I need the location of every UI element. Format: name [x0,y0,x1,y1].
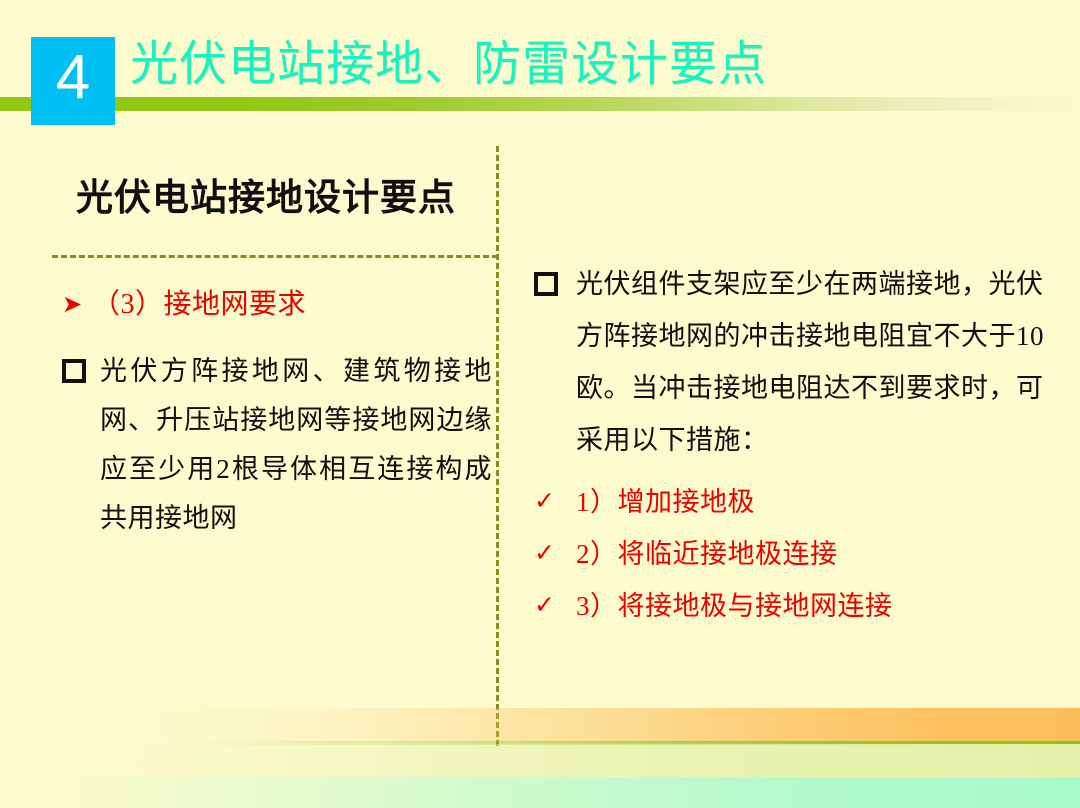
check-mark-icon: ✓ [534,528,576,580]
vertical-dashed-divider [496,146,499,746]
left-bullet-item: 光伏方阵接地网、建筑物接地网、升压站接地网等接地网边缘应至少用2根导体相互连接构… [62,347,492,543]
check-mark-icon: ✓ [534,476,576,528]
footer-band-lime [0,744,1080,777]
left-column: 光伏电站接地设计要点 [40,176,492,222]
hollow-square-icon [534,258,576,296]
page-title: 光伏电站接地、防雷设计要点 [130,36,767,94]
right-check-label: 2）将临近接地极连接 [576,528,1050,580]
right-check-list: ✓ 1）增加接地极 ✓ 2）将临近接地极连接 ✓ 3）将接地极与接地网连接 [534,476,1050,632]
left-column-title: 光伏电站接地设计要点 [40,176,492,222]
slide-root: 4 光伏电站接地、防雷设计要点 光伏电站接地设计要点 ➤ （3）接地网要求 光伏… [0,0,1080,808]
right-bullet-item: 光伏组件支架应至少在两端接地，光伏方阵接地网的冲击接地电阻宜不大于10欧。当冲击… [534,258,1050,466]
left-lead-item: ➤ （3）接地网要求 [62,285,492,325]
footer-band-mint [0,777,1080,808]
footer-band-orange [0,708,1080,742]
header-gradient-band [0,97,1080,111]
right-check-item: ✓ 3）将接地极与接地网连接 [534,580,1050,632]
right-check-label: 3）将接地极与接地网连接 [576,580,1050,632]
left-column-body: ➤ （3）接地网要求 光伏方阵接地网、建筑物接地网、升压站接地网等接地网边缘应至… [62,285,492,543]
check-mark-icon: ✓ [534,580,576,632]
right-check-item: ✓ 1）增加接地极 [534,476,1050,528]
section-number-box: 4 [31,37,115,125]
right-column: 光伏组件支架应至少在两端接地，光伏方阵接地网的冲击接地电阻宜不大于10欧。当冲击… [534,258,1050,632]
left-bullet-label: 光伏方阵接地网、建筑物接地网、升压站接地网等接地网边缘应至少用2根导体相互连接构… [100,347,492,543]
arrow-right-triangle-icon: ➤ [62,285,92,325]
hollow-square-icon [62,347,100,383]
right-bullet-label: 光伏组件支架应至少在两端接地，光伏方阵接地网的冲击接地电阻宜不大于10欧。当冲击… [576,258,1050,466]
left-lead-label: （3）接地网要求 [92,285,492,325]
section-number: 4 [56,47,90,115]
horizontal-dashed-divider [52,255,498,258]
right-check-item: ✓ 2）将临近接地极连接 [534,528,1050,580]
right-check-label: 1）增加接地极 [576,476,1050,528]
